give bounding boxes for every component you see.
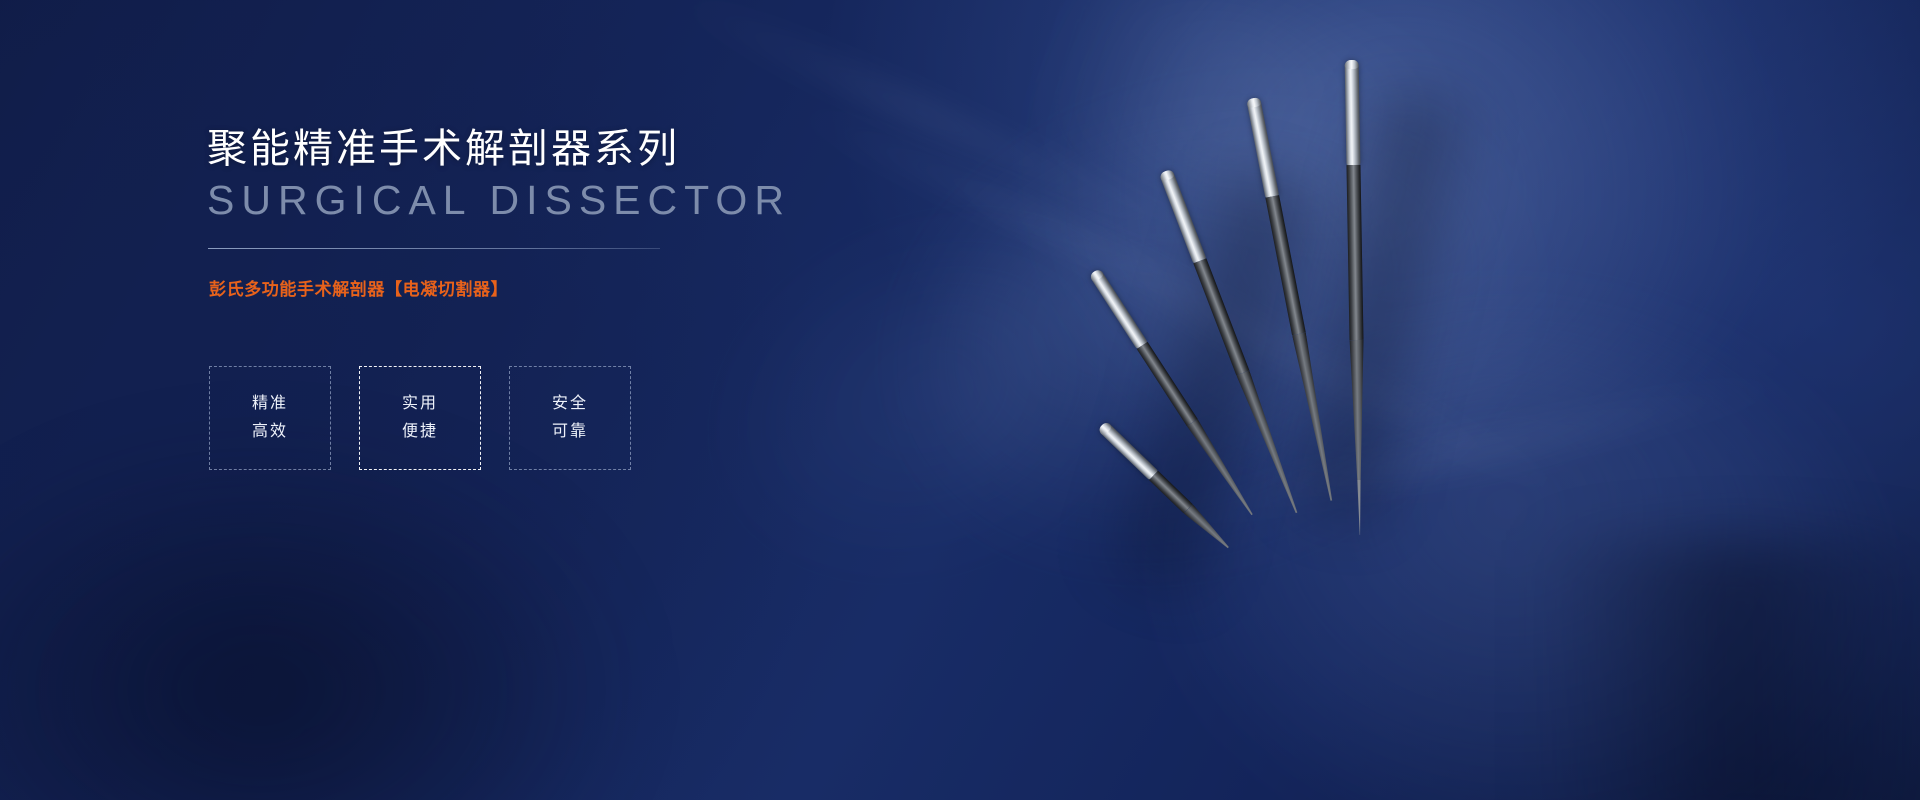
feature-box-line-2: 便捷 bbox=[402, 418, 438, 446]
feature-box-line-2: 可靠 bbox=[552, 418, 588, 446]
light-glow-decoration bbox=[1020, 0, 1780, 440]
feature-box-line-1: 安全 bbox=[552, 390, 588, 418]
feature-box-2[interactable]: 实用便捷 bbox=[359, 366, 481, 470]
feature-box-line-2: 高效 bbox=[252, 418, 288, 446]
instrument-shaft bbox=[1136, 342, 1197, 426]
feature-box-line-1: 精准 bbox=[252, 390, 288, 418]
feature-box-line-1: 实用 bbox=[402, 390, 438, 418]
soft-shadow-1 bbox=[1091, 160, 1338, 600]
surgical-instrument-2 bbox=[1088, 268, 1273, 543]
instrument-shaft bbox=[1265, 195, 1305, 335]
product-name-highlight: 彭氏多功能手术解剖器【电凝切割器】 bbox=[209, 277, 508, 303]
instrument-shaft bbox=[1149, 471, 1193, 514]
instrument-taper bbox=[1350, 340, 1366, 480]
blurred-hand-decoration-2 bbox=[1147, 284, 1913, 800]
instrument-taper bbox=[1186, 419, 1257, 518]
title-divider bbox=[208, 248, 660, 249]
instrument-handle bbox=[1246, 97, 1279, 198]
surgical-instrument-5 bbox=[1345, 60, 1367, 540]
feature-box-group: 精准高效实用便捷安全可靠 bbox=[209, 366, 631, 470]
surgical-instrument-3 bbox=[1159, 169, 1314, 543]
soft-shadow-2 bbox=[1277, 82, 1484, 528]
feature-box-1[interactable]: 精准高效 bbox=[209, 366, 331, 470]
surgical-dissector-banner: 聚能精准手术解剖器系列 SURGICAL DISSECTOR 彭氏多功能手术解剖… bbox=[0, 0, 1920, 800]
banner-content: 聚能精准手术解剖器系列 SURGICAL DISSECTOR 彭氏多功能手术解剖… bbox=[207, 0, 1107, 800]
instrument-handle bbox=[1159, 169, 1206, 264]
instrument-shaft bbox=[1346, 165, 1363, 340]
soft-shadow-3 bbox=[1530, 540, 1920, 800]
page-title: 聚能精准手术解剖器系列 bbox=[207, 123, 680, 175]
instrument-taper bbox=[1292, 333, 1338, 503]
light-streak-5 bbox=[1146, 370, 1815, 529]
surgical-instrument-4 bbox=[1246, 97, 1346, 541]
feature-box-3[interactable]: 安全可靠 bbox=[509, 366, 631, 470]
instrument-taper bbox=[1183, 504, 1232, 552]
page-subtitle-english: SURGICAL DISSECTOR bbox=[207, 176, 791, 224]
instrument-shaft bbox=[1193, 258, 1249, 375]
instrument-needle-tip bbox=[1352, 480, 1367, 535]
surgical-instrument-1 bbox=[1097, 421, 1225, 545]
instrument-handle bbox=[1345, 60, 1361, 165]
instrument-taper bbox=[1236, 370, 1303, 515]
